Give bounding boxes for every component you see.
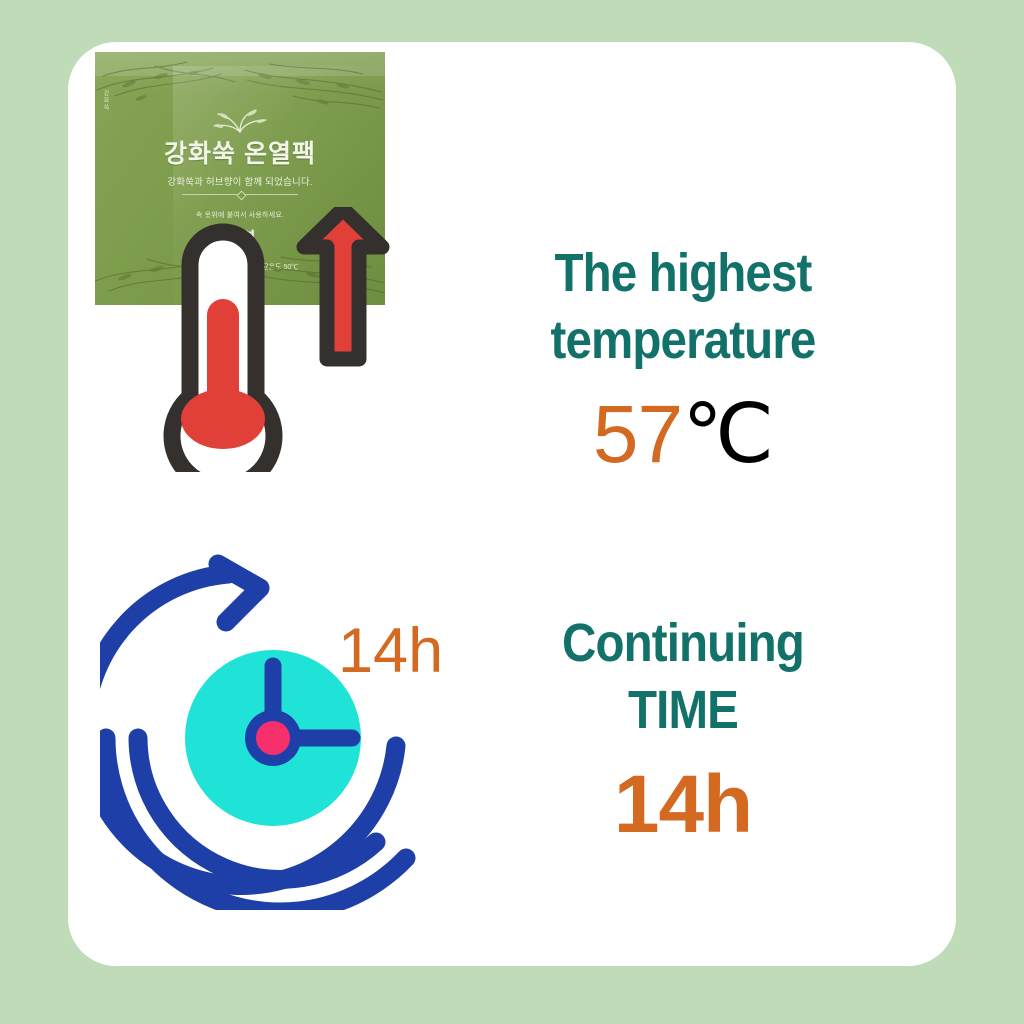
temperature-unit: ℃ (682, 389, 773, 480)
package-title: 강화쑥 온열팩 (95, 141, 385, 169)
temperature-number: 57 (593, 389, 682, 480)
time-value: 14h (468, 762, 898, 848)
continuing-time-block: Continuing TIME 14h (468, 610, 898, 848)
package-subtitle: 강화쑥과 허브향이 함께 되었습니다. (95, 174, 385, 188)
rising-arrow-icon (304, 209, 382, 359)
infographic-canvas: 강화쑥 강화쑥 온열팩 강화쑥과 허브향이 함께 되었습니다. (0, 0, 1024, 1024)
time-headline-line1: Continuing (494, 610, 872, 677)
clock-duration-label: 14h (338, 616, 443, 686)
mugwort-leaf-icon (200, 108, 280, 134)
temperature-headline-line1: The highest (494, 240, 872, 307)
time-headline-line2: TIME (494, 677, 872, 744)
clock-duration-icon: 14h (100, 550, 460, 910)
thermometer-rising-icon (128, 207, 396, 472)
temperature-value: 57℃ (468, 392, 898, 478)
highest-temperature-block: The highest temperature 57℃ (468, 240, 898, 478)
clock-hub-center (256, 721, 290, 755)
package-divider (182, 194, 298, 195)
clock-arrow-head (218, 564, 260, 622)
temperature-headline-line2: temperature (494, 307, 872, 374)
